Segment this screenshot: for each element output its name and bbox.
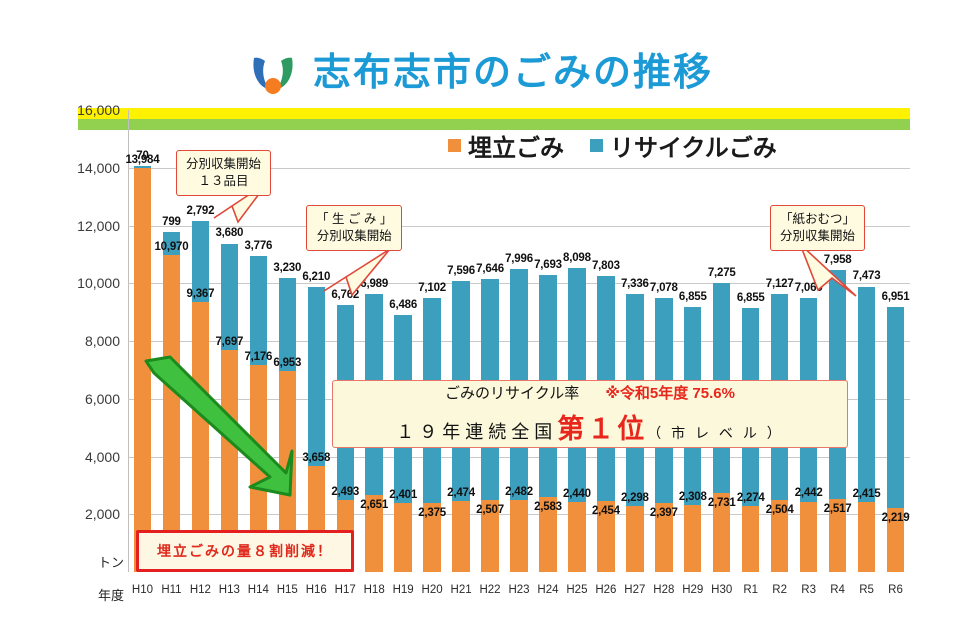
title-text: 志布志市のごみの推移 [313, 54, 713, 92]
bar-value-recycle: 7,102 [418, 282, 446, 294]
bar-value-landfill: 2,375 [418, 507, 446, 519]
x-tick-label: H10 [132, 584, 153, 596]
bar-segment-landfill [452, 501, 469, 572]
x-tick-label: H15 [277, 584, 298, 596]
bar-value-landfill: 2,274 [737, 492, 765, 504]
bar-column [655, 110, 672, 572]
shibushi-city-logo-icon [247, 47, 299, 99]
bar-value-landfill: 2,415 [853, 488, 881, 500]
bar-segment-landfill [800, 502, 817, 573]
recycle-rate-line-1: ごみのリサイクル率 ※令和5年度 75.6% [333, 382, 847, 403]
x-tick-label: H27 [624, 584, 645, 596]
bar-value-recycle: 7,803 [592, 260, 620, 272]
x-tick-label: R5 [859, 584, 874, 596]
x-tick-label: H18 [364, 584, 385, 596]
x-tick-label: H17 [335, 584, 356, 596]
x-tick-label: H29 [682, 584, 703, 596]
bar-column [510, 110, 527, 572]
bar-column [452, 110, 469, 572]
bar-segment-landfill [394, 503, 411, 572]
callout-line-1: 「紙おむつ」 [780, 211, 855, 228]
x-tick-label: H24 [537, 584, 558, 596]
chart-legend: 埋立ごみ リサイクルごみ [448, 128, 777, 163]
bar-value-recycle: 7,646 [476, 263, 504, 275]
bar-segment-recycle [887, 307, 904, 508]
bar-value-recycle: 6,855 [737, 292, 765, 304]
bar-value-landfill: 2,308 [679, 491, 707, 503]
bar-value-recycle: 7,996 [505, 253, 533, 265]
y-tick-label: 4,000 [56, 449, 120, 465]
bar-value-landfill: 2,493 [331, 486, 359, 498]
bar-value-recycle: 7,693 [534, 259, 562, 271]
x-tick-label: H13 [219, 584, 240, 596]
bar-value-landfill: 2,401 [389, 489, 417, 501]
x-axis-title: 年度 [64, 585, 124, 604]
x-tick-label: H16 [306, 584, 327, 596]
landfill-reduction-box: 埋立ごみの量８割削減！ [136, 530, 354, 572]
recycle-rate-line-2: １９年連続全国 第１位 （ 市 レ ベ ル ） [333, 407, 847, 446]
callout-line-1: 「 生 ご み 」 [316, 211, 392, 228]
bar-segment-recycle [134, 166, 151, 168]
callout-line-2: 分別収集開始 [316, 228, 392, 245]
y-tick-label: 16,000 [56, 102, 120, 118]
bar-column [887, 110, 904, 572]
x-tick-label: R2 [772, 584, 787, 596]
bar-value-recycle: 8,098 [563, 252, 591, 264]
x-tick-label: R3 [801, 584, 816, 596]
callout-separate-collection: 分別収集開始 １３品目 [176, 150, 271, 196]
legend-item-landfill: 埋立ごみ [448, 128, 564, 163]
y-tick-label: 6,000 [56, 391, 120, 407]
x-tick-label: H25 [566, 584, 587, 596]
bar-column [597, 110, 614, 572]
bar-column [423, 110, 440, 572]
legend-label-recycle: リサイクルごみ [610, 128, 777, 163]
bar-value-landfill: 2,442 [795, 487, 823, 499]
bar-value-landfill: 2,482 [505, 486, 533, 498]
y-axis-unit: トン [64, 552, 124, 571]
callout-line-2: １３品目 [186, 173, 261, 190]
x-tick-label: R6 [888, 584, 903, 596]
recycle-rate-note: ※令和5年度 75.6% [605, 382, 735, 403]
callout-line-2: 分別収集開始 [780, 228, 855, 245]
y-tick-label: 14,000 [56, 160, 120, 176]
bar-value-landfill: 7,697 [215, 336, 243, 348]
bar-column [394, 110, 411, 572]
bar-value-recycle: 7,078 [650, 282, 678, 294]
bar-segment-landfill [742, 506, 759, 572]
bar-value-landfill: 2,583 [534, 501, 562, 513]
bar-value-recycle: 7,336 [621, 278, 649, 290]
rank-suffix: （ 市 レ ベ ル ） [647, 423, 783, 443]
bar-value-landfill: 3,658 [302, 452, 330, 464]
callout-raw-garbage: 「 生 ご み 」 分別収集開始 [306, 205, 402, 251]
bar-segment-landfill [858, 502, 875, 572]
recycle-rate-label: ごみのリサイクル率 [445, 382, 579, 403]
legend-swatch-recycle [590, 139, 603, 152]
bar-segment-recycle [250, 256, 267, 365]
bar-value-landfill: 9,367 [187, 288, 215, 300]
bar-column [568, 110, 585, 572]
legend-label-landfill: 埋立ごみ [468, 128, 564, 163]
bar-segment-landfill [684, 505, 701, 572]
x-tick-label: H12 [190, 584, 211, 596]
bar-value-landfill: 2,219 [882, 512, 910, 524]
x-tick-label: H23 [508, 584, 529, 596]
legend-swatch-landfill [448, 139, 461, 152]
bar-column [337, 110, 354, 572]
rank-prefix: １９年連続全国 [396, 418, 557, 444]
bar-value-recycle: 7,275 [708, 267, 736, 279]
x-tick-label: H14 [248, 584, 269, 596]
bar-value-landfill: 2,651 [360, 499, 388, 511]
bar-value-landfill: 2,507 [476, 504, 504, 516]
x-tick-label: H20 [422, 584, 443, 596]
y-tick-label: 10,000 [56, 275, 120, 291]
x-tick-label: H11 [161, 584, 181, 596]
bar-value-landfill: 2,440 [563, 488, 591, 500]
bar-value-landfill: 2,504 [766, 504, 794, 516]
bar-segment-landfill [568, 502, 585, 572]
bar-segment-recycle [858, 287, 875, 503]
y-tick-label: 2,000 [56, 506, 120, 522]
bar-column [800, 110, 817, 572]
bar-value-landfill: 2,454 [592, 505, 620, 517]
callout-line-1: 分別収集開始 [186, 156, 261, 173]
downward-trend-arrow-icon [140, 355, 300, 505]
bar-value-landfill: 13,984 [125, 154, 159, 166]
bar-value-landfill: 2,298 [621, 492, 649, 504]
bar-column [858, 110, 875, 572]
bar-value-recycle: 6,855 [679, 291, 707, 303]
y-tick-label: 8,000 [56, 333, 120, 349]
x-tick-label: R1 [743, 584, 758, 596]
bar-value-landfill: 2,474 [447, 487, 475, 499]
bar-value-recycle: 7,127 [766, 278, 794, 290]
x-tick-label: R4 [830, 584, 845, 596]
x-tick-label: H26 [595, 584, 616, 596]
y-tick-label: 12,000 [56, 218, 120, 234]
x-tick-label: H30 [711, 584, 732, 596]
x-tick-label: H22 [479, 584, 500, 596]
bar-segment-recycle [221, 244, 238, 350]
page-title: 志布志市のごみの推移 [0, 42, 960, 104]
callout-tail-raw-garbage [294, 245, 404, 315]
callout-paper-diaper: 「紙おむつ」 分別収集開始 [770, 205, 865, 251]
bar-column [771, 110, 788, 572]
recycle-rate-box: ごみのリサイクル率 ※令和5年度 75.6% １９年連続全国 第１位 （ 市 レ… [332, 380, 848, 448]
bar-value-landfill: 2,517 [824, 503, 852, 515]
x-tick-label: H19 [393, 584, 414, 596]
bar-column [308, 110, 325, 572]
bar-value-recycle: 7,596 [447, 265, 475, 277]
x-tick-label: H21 [451, 584, 472, 596]
slide-canvas: 志布志市のごみの推移 16,00014,00012,00010,0008,000… [0, 0, 960, 640]
x-tick-label: H28 [653, 584, 674, 596]
bar-segment-landfill [626, 506, 643, 572]
bar-value-landfill: 2,397 [650, 507, 678, 519]
bar-segment-landfill [510, 500, 527, 572]
legend-item-recycle: リサイクルごみ [590, 128, 777, 163]
landfill-reduction-text: 埋立ごみの量８割削減！ [157, 541, 333, 561]
bar-value-landfill: 2,731 [708, 497, 736, 509]
rank-value: 第１位 [557, 407, 647, 446]
